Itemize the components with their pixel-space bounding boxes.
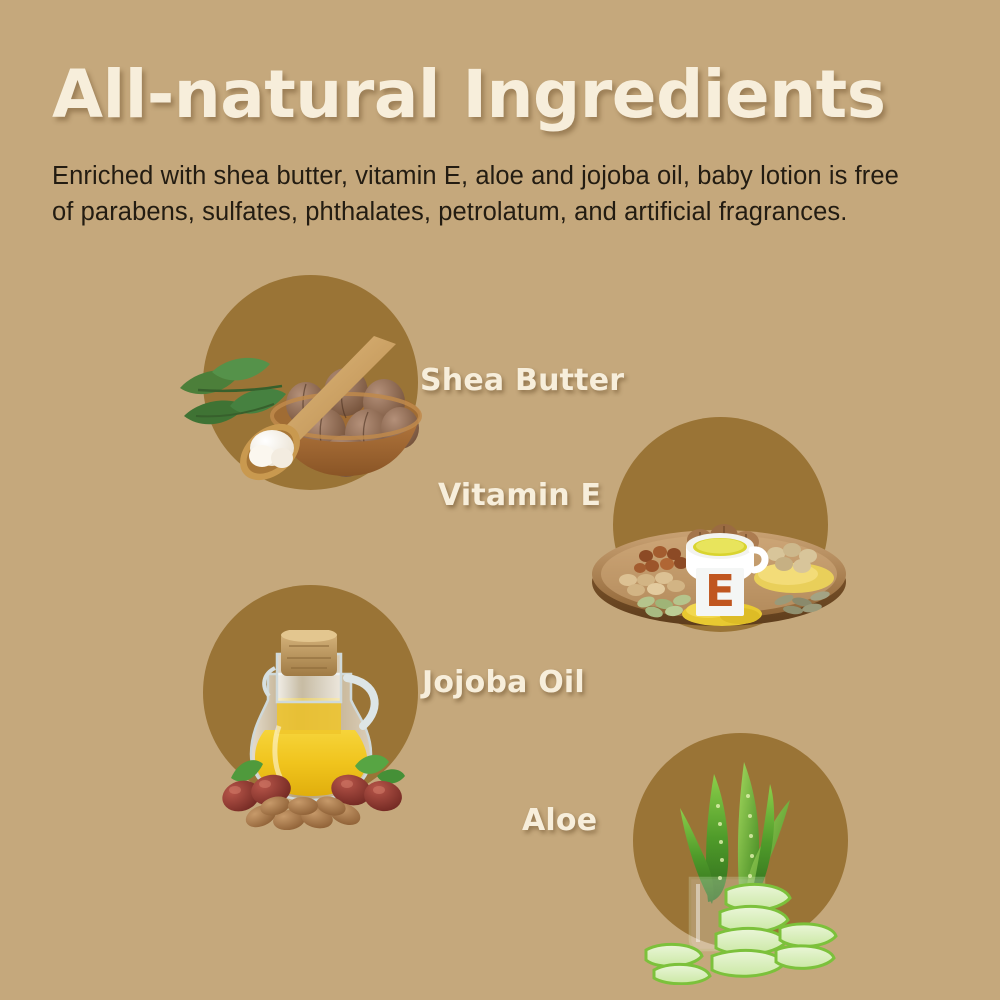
jojoba-oil-carafe-icon [205, 630, 420, 830]
vitamin-e-letter: E [705, 566, 735, 617]
page-title: All-natural Ingredients [52, 62, 952, 128]
aloe-vera-leaves-icon [628, 750, 848, 985]
ingredients-infographic: All-natural Ingredients Enriched with sh… [0, 0, 1000, 1000]
shea-butter-bowl-and-spoon-icon [178, 330, 438, 510]
leaf-group [180, 358, 286, 424]
page-subtitle: Enriched with shea butter, vitamin E, al… [52, 158, 920, 230]
aloe-slice-group [646, 884, 836, 983]
vitamin-e-seed-platter-icon: E [588, 490, 850, 630]
jojoba-oil-label: Jojoba Oil [422, 665, 585, 700]
vitamin-e-card: E [696, 566, 744, 617]
shea-butter-label: Shea Butter [420, 363, 624, 398]
cork-stopper [281, 630, 337, 676]
vitamin-e-label: Vitamin E [438, 478, 601, 513]
aloe-label: Aloe [522, 803, 597, 838]
